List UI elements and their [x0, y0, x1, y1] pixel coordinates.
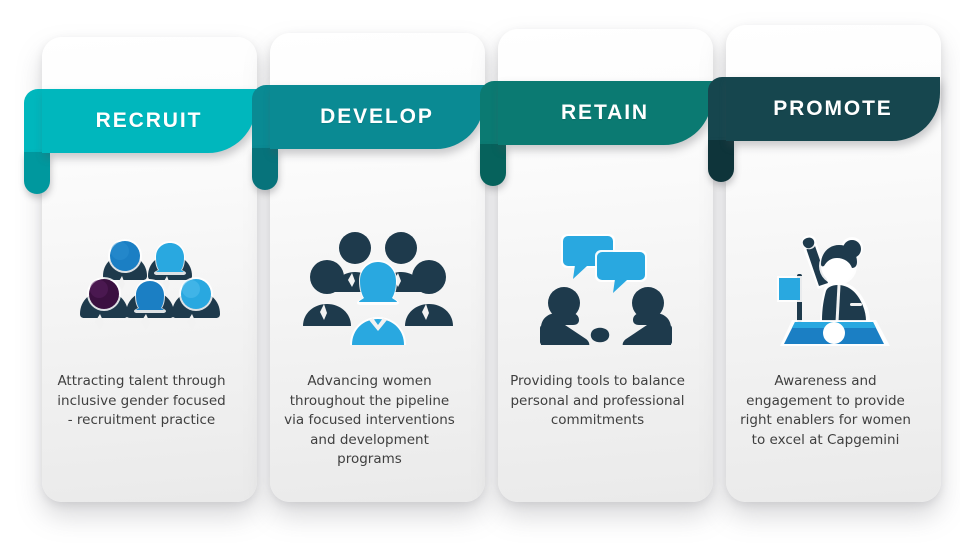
- description-line: via focused interventions: [270, 411, 469, 431]
- woman-leading-crowd-icon: [303, 230, 453, 345]
- description-line: engagement to provide: [726, 392, 925, 412]
- card-label-promote: PROMOTE: [773, 97, 892, 121]
- description-line: - recruitment practice: [42, 411, 241, 431]
- description-line: Advancing women: [270, 372, 469, 392]
- description-line: programs: [270, 450, 469, 470]
- ribbon-promote: PROMOTE: [708, 77, 940, 141]
- icon-promote: [726, 222, 941, 352]
- description-line: Providing tools to balance: [498, 372, 697, 392]
- ribbon-band-recruit: RECRUIT: [42, 89, 256, 153]
- description-retain: Providing tools to balance personal and …: [498, 372, 697, 431]
- icon-retain: [498, 222, 713, 352]
- description-line: inclusive gender focused: [42, 392, 241, 412]
- woman-raising-hand-at-podium-icon: [764, 228, 904, 346]
- description-develop: Advancing women throughout the pipeline …: [270, 372, 469, 470]
- description-line: personal and professional: [498, 392, 697, 412]
- ribbon-recruit: RECRUIT: [24, 89, 256, 153]
- handshake-with-speech-bubbles-icon: [531, 230, 681, 345]
- icon-develop: [270, 222, 485, 352]
- description-line: commitments: [498, 411, 697, 431]
- description-line: Attracting talent through: [42, 372, 241, 392]
- card-label-retain: RETAIN: [561, 101, 649, 125]
- ribbon-develop: DEVELOP: [252, 85, 484, 149]
- description-promote: Awareness and engagement to provide righ…: [726, 372, 925, 450]
- ribbon-tail-recruit: [24, 152, 50, 194]
- icon-recruit: [42, 222, 257, 352]
- description-line: and development: [270, 431, 469, 451]
- description-line: to excel at Capgemini: [726, 431, 925, 451]
- infographic-canvas: RECRUIT: [0, 0, 960, 544]
- ribbon-band-retain: RETAIN: [498, 81, 712, 145]
- ribbon-band-promote: PROMOTE: [726, 77, 940, 141]
- ribbon-retain: RETAIN: [480, 81, 712, 145]
- group-of-people-icon: [70, 230, 230, 345]
- ribbon-tail-promote: [708, 140, 734, 182]
- card-label-develop: DEVELOP: [320, 105, 434, 129]
- card-label-recruit: RECRUIT: [96, 109, 203, 133]
- description-recruit: Attracting talent through inclusive gend…: [42, 372, 241, 431]
- description-line: Awareness and: [726, 372, 925, 392]
- ribbon-tail-retain: [480, 144, 506, 186]
- description-line: right enablers for women: [726, 411, 925, 431]
- description-line: throughout the pipeline: [270, 392, 469, 412]
- ribbon-band-develop: DEVELOP: [270, 85, 484, 149]
- ribbon-tail-develop: [252, 148, 278, 190]
